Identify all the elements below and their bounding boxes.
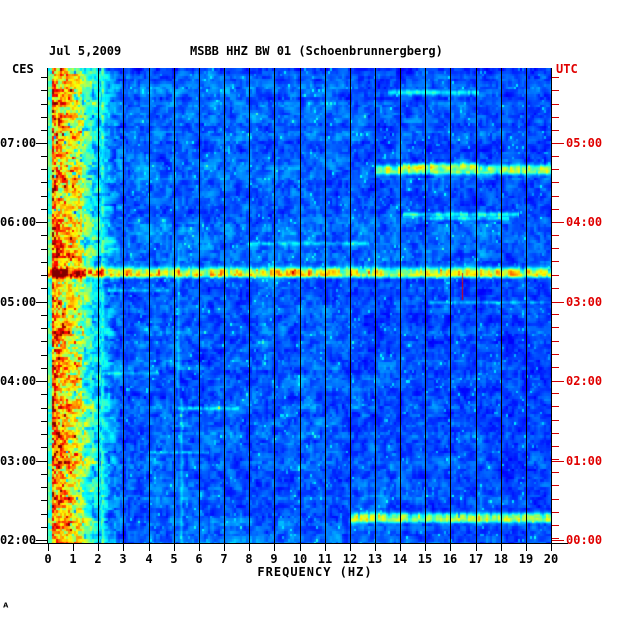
plot-date-title: Jul 5,2009 [49, 44, 121, 58]
left-tick-minor [41, 434, 48, 435]
right-tick-minor [552, 459, 559, 460]
left-tick-minor [41, 209, 48, 210]
x-tick [450, 543, 451, 551]
x-tick [73, 543, 74, 551]
x-tick [174, 543, 175, 551]
x-tick [149, 543, 150, 551]
left-tick-minor [41, 421, 48, 422]
right-tick-minor [552, 288, 559, 289]
right-tick-label: 03:00 [566, 295, 602, 309]
left-tick-label: 07:00 [0, 136, 33, 150]
right-tick-minor [552, 156, 559, 157]
x-tick [425, 543, 426, 551]
right-tick-minor [552, 77, 559, 78]
spectrogram-plot-area[interactable] [48, 68, 551, 543]
left-tick-minor [41, 90, 48, 91]
right-tick-minor [552, 354, 559, 355]
left-tick-minor [41, 77, 48, 78]
right-tick-major [552, 302, 564, 303]
right-tick-major [552, 540, 564, 541]
x-tick [350, 543, 351, 551]
corner-artifact-mark: A [3, 602, 8, 610]
left-tick-minor [41, 104, 48, 105]
right-tick-label: 05:00 [566, 136, 602, 150]
left-tick-minor [41, 487, 48, 488]
right-tick-minor [552, 538, 559, 539]
x-tick-label: 20 [536, 552, 566, 566]
left-tick-minor [41, 169, 48, 170]
right-tick-minor [552, 182, 559, 183]
left-tick-major [36, 461, 48, 462]
right-tick-major [552, 381, 564, 382]
right-tick-label: 01:00 [566, 454, 602, 468]
right-tick-minor [552, 235, 559, 236]
x-tick [400, 543, 401, 551]
x-tick [375, 543, 376, 551]
x-tick [476, 543, 477, 551]
right-tick-minor [552, 433, 559, 434]
left-tick-minor [41, 130, 48, 131]
left-tick-minor [41, 514, 48, 515]
x-tick [526, 543, 527, 551]
left-tick-label: 03:00 [0, 454, 33, 468]
right-tick-minor [552, 117, 559, 118]
left-tick-minor [41, 156, 48, 157]
right-axis-label: UTC [556, 62, 578, 76]
left-axis-label: CES [12, 62, 34, 76]
left-tick-label: 06:00 [0, 215, 33, 229]
left-tick-minor [41, 182, 48, 183]
left-tick-minor [41, 368, 48, 369]
left-tick-minor [41, 527, 48, 528]
right-tick-minor [552, 472, 559, 473]
left-tick-minor [41, 500, 48, 501]
left-tick-minor [41, 288, 48, 289]
left-tick-minor [41, 262, 48, 263]
left-tick-minor [41, 474, 48, 475]
left-tick-label: 02:00 [0, 533, 33, 547]
left-tick-minor [41, 196, 48, 197]
left-tick-minor [41, 117, 48, 118]
right-tick-minor [552, 209, 559, 210]
right-tick-label: 02:00 [566, 374, 602, 388]
right-tick-minor [552, 367, 559, 368]
right-tick-minor [552, 169, 559, 170]
frequency-grid-overlay [48, 68, 551, 543]
left-tick-minor [41, 408, 48, 409]
spectrogram-page: Jul 5,2009 MSBB HHZ BW 01 (Schoenbrunner… [0, 0, 630, 624]
left-tick-major [36, 222, 48, 223]
right-tick-minor [552, 327, 559, 328]
left-tick-minor [41, 235, 48, 236]
right-tick-minor [552, 275, 559, 276]
right-tick-minor [552, 130, 559, 131]
x-axis-title: FREQUENCY (HZ) [0, 565, 630, 579]
left-tick-minor [41, 275, 48, 276]
x-tick [551, 543, 552, 551]
right-tick-major [552, 222, 564, 223]
x-tick [274, 543, 275, 551]
right-tick-minor [552, 420, 559, 421]
left-tick-minor [41, 341, 48, 342]
right-tick-major [552, 143, 564, 144]
left-tick-major [36, 143, 48, 144]
x-tick [325, 543, 326, 551]
left-tick-minor [41, 355, 48, 356]
right-tick-label: 00:00 [566, 533, 602, 547]
x-tick [501, 543, 502, 551]
right-tick-minor [552, 104, 559, 105]
right-tick-minor [552, 90, 559, 91]
right-tick-minor [552, 248, 559, 249]
left-tick-minor [41, 249, 48, 250]
left-tick-minor [41, 315, 48, 316]
right-tick-minor [552, 512, 559, 513]
left-tick-label: 05:00 [0, 295, 33, 309]
left-tick-major [36, 540, 48, 541]
right-tick-minor [552, 446, 559, 447]
x-tick [224, 543, 225, 551]
left-tick-minor [41, 447, 48, 448]
x-tick [249, 543, 250, 551]
right-tick-minor [552, 525, 559, 526]
x-tick [48, 543, 49, 551]
left-tick-minor [41, 328, 48, 329]
right-tick-minor [552, 314, 559, 315]
left-tick-major [36, 302, 48, 303]
right-tick-minor [552, 485, 559, 486]
x-tick [199, 543, 200, 551]
x-tick [300, 543, 301, 551]
plot-station-title: MSBB HHZ BW 01 (Schoenbrunnergberg) [190, 44, 443, 58]
left-tick-minor [41, 394, 48, 395]
right-tick-major [552, 461, 564, 462]
left-tick-label: 04:00 [0, 374, 33, 388]
left-tick-major [36, 381, 48, 382]
right-tick-minor [552, 341, 559, 342]
right-tick-minor [552, 196, 559, 197]
right-tick-minor [552, 406, 559, 407]
x-tick [123, 543, 124, 551]
left-axis-line [47, 68, 48, 544]
x-tick [98, 543, 99, 551]
right-tick-minor [552, 393, 559, 394]
right-tick-minor [552, 499, 559, 500]
right-tick-label: 04:00 [566, 215, 602, 229]
right-tick-minor [552, 261, 559, 262]
